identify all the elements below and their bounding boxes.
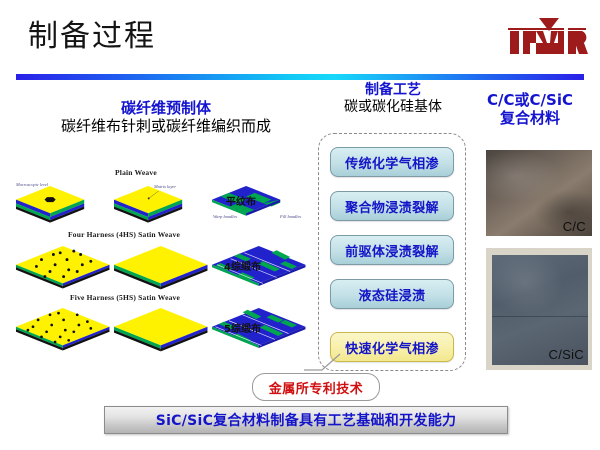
- photo-cc-label: C/C: [563, 219, 586, 234]
- middle-heading-sub: 碳或碳化硅基体: [318, 99, 468, 116]
- imr-logo: [506, 16, 588, 58]
- weave-illustration-icon: [10, 168, 310, 368]
- process-box-precursor-pip[interactable]: 前驱体浸渍裂解: [330, 235, 454, 265]
- middle-heading-main: 制备工艺: [318, 82, 468, 99]
- weave-cn-label-row3: 5综缎布: [224, 320, 261, 335]
- patent-callout: 金属所专利技术: [252, 373, 380, 401]
- process-box-cvi[interactable]: 传统化学气相渗: [330, 147, 454, 177]
- weave-annot-warp: Warp bundles: [213, 214, 239, 219]
- left-heading-main: 碳纤维预制体: [22, 100, 310, 118]
- photo-csic-label: C/SiC: [549, 347, 584, 362]
- column-heading-right: C/C或C/SiC 复合材料: [464, 92, 596, 127]
- weave-annot-fill: Fill bundles: [280, 214, 302, 219]
- csic-seam: [492, 316, 588, 317]
- weave-annot-macroscopic: Macroscopic level: [16, 182, 48, 187]
- right-heading-sub: 复合材料: [464, 110, 596, 128]
- photo-cc-sample: C/C: [486, 150, 592, 236]
- fiber-preform-diagram: Plain Weave Four Harness (4HS) Satin Wea…: [10, 168, 310, 368]
- column-heading-middle: 制备工艺 碳或碳化硅基体: [318, 82, 468, 115]
- process-box-lsi[interactable]: 液态硅浸渍: [330, 279, 454, 309]
- weave-annot-matrix: Matrix layer: [154, 184, 176, 189]
- weave-caption-row1: Plain Weave: [115, 168, 157, 177]
- column-heading-left: 碳纤维预制体 碳纤维布针刺或碳纤维编织而成: [22, 100, 310, 135]
- imr-logo-icon: [506, 16, 588, 58]
- right-heading-main: C/C或C/SiC: [464, 92, 596, 110]
- summary-banner: SiC/SiC复合材料制备具有工艺基础和开发能力: [104, 406, 508, 434]
- weave-caption-row2: Four Harness (4HS) Satin Weave: [68, 230, 180, 239]
- process-box-pip[interactable]: 聚合物浸渍裂解: [330, 191, 454, 221]
- slide-root: 制备过程 碳纤维预制体 碳纤维布针刺或碳纤维编织而成 制备工艺 碳或碳化硅基体 …: [0, 0, 600, 450]
- left-heading-sub: 碳纤维布针刺或碳纤维编织而成: [22, 118, 310, 136]
- weave-cn-label-row2: 4综缎布: [224, 258, 261, 273]
- title-divider: [16, 74, 584, 80]
- page-title: 制备过程: [28, 22, 156, 52]
- photo-csic-sample: C/SiC: [486, 248, 592, 370]
- weave-cn-label-row1: 平纹布: [226, 193, 256, 208]
- weave-caption-row3: Five Harness (5HS) Satin Weave: [70, 293, 180, 302]
